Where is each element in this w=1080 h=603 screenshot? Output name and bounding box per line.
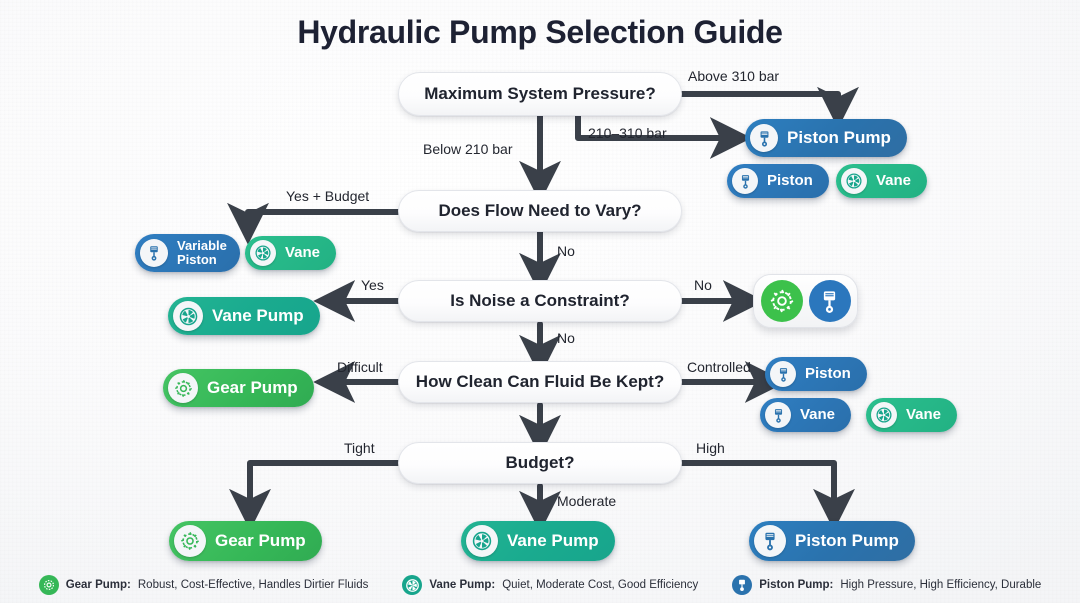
result-chip-variable-piston[interactable]: Variable Piston	[135, 234, 240, 272]
result-vane-pump-final[interactable]: Vane Pump	[461, 521, 615, 561]
gear-icon	[761, 280, 803, 322]
edge-label-noise-yes: Yes	[361, 277, 384, 293]
legend-name: Vane Pump:	[429, 579, 495, 591]
result-gear-pump-final[interactable]: Gear Pump	[169, 521, 322, 561]
result-piston-pump-final[interactable]: Piston Pump	[749, 521, 915, 561]
decision-label: Is Noise a Constraint?	[450, 291, 629, 311]
result-label: Piston Pump	[795, 532, 899, 550]
decision-node-clean[interactable]: How Clean Can Fluid Be Kept?	[398, 361, 682, 403]
decision-label: Does Flow Need to Vary?	[438, 201, 641, 221]
piston-icon	[765, 402, 791, 428]
vane-icon	[841, 168, 867, 194]
edge-label-flow-no: No	[557, 243, 575, 259]
edge-label-above-310: Above 310 bar	[688, 68, 779, 84]
result-piston-pump-top[interactable]: Piston Pump	[745, 119, 907, 157]
result-label: Variable Piston	[177, 239, 227, 267]
decision-node-flow[interactable]: Does Flow Need to Vary?	[398, 190, 682, 232]
result-label: Vane	[800, 407, 835, 423]
edge-label-controlled: Controlled	[687, 359, 751, 375]
decision-label: Maximum System Pressure?	[424, 84, 656, 104]
edge-label-noise-no-down: No	[557, 330, 575, 346]
legend-desc: Quiet, Moderate Cost, Good Efficiency	[502, 579, 698, 591]
vane-icon	[466, 525, 498, 557]
piston-icon	[732, 575, 752, 595]
edge-label-moderate: Moderate	[557, 493, 616, 509]
result-label: Vane Pump	[507, 532, 599, 550]
legend-name: Piston Pump:	[759, 579, 833, 591]
piston-icon	[809, 280, 851, 322]
result-chip-vane-4[interactable]: Vane	[866, 398, 957, 432]
piston-icon	[754, 525, 786, 557]
gear-icon	[174, 525, 206, 557]
legend-item-piston: Piston Pump: High Pressure, High Efficie…	[732, 575, 1041, 595]
result-gear-pump-clean[interactable]: Gear Pump	[163, 369, 314, 407]
piston-icon	[770, 361, 796, 387]
result-label: Vane	[876, 173, 911, 189]
edge-label-difficult: Difficult	[337, 359, 383, 375]
gear-icon	[39, 575, 59, 595]
vane-icon	[250, 240, 276, 266]
vane-icon	[173, 301, 203, 331]
edge-yes-budget	[248, 212, 398, 228]
flowchart-canvas: Hydraulic Pump Selection Guide	[0, 0, 1080, 603]
edge-label-tight: Tight	[344, 440, 375, 456]
result-label: Gear Pump	[207, 379, 298, 397]
result-label: Vane	[906, 407, 941, 423]
legend-item-gear: Gear Pump: Robust, Cost-Effective, Handl…	[39, 575, 369, 595]
edge-label-below-210: Below 210 bar	[423, 141, 513, 157]
gear-icon	[168, 373, 198, 403]
edge-tight	[250, 463, 398, 514]
piston-icon	[732, 168, 758, 194]
edge-above-310	[682, 94, 838, 112]
edge-label-noise-no-right: No	[694, 277, 712, 293]
vane-icon	[871, 402, 897, 428]
legend: Gear Pump: Robust, Cost-Effective, Handl…	[0, 575, 1080, 595]
result-chip-vane-2[interactable]: Vane	[245, 236, 336, 270]
result-label: Gear Pump	[215, 532, 306, 550]
result-chip-vane-3[interactable]: Vane	[760, 398, 851, 432]
decision-node-noise[interactable]: Is Noise a Constraint?	[398, 280, 682, 322]
legend-desc: High Pressure, High Efficiency, Durable	[840, 579, 1041, 591]
result-label: Piston	[805, 366, 851, 382]
decision-node-budget[interactable]: Budget?	[398, 442, 682, 484]
legend-name: Gear Pump:	[66, 579, 131, 591]
vane-icon	[402, 575, 422, 595]
legend-item-vane: Vane Pump: Quiet, Moderate Cost, Good Ef…	[402, 575, 698, 595]
result-label: Piston Pump	[787, 129, 891, 147]
result-chip-vane-1[interactable]: Vane	[836, 164, 927, 198]
result-chip-piston-1[interactable]: Piston	[727, 164, 829, 198]
decision-label: Budget?	[506, 453, 575, 473]
result-label: Vane	[285, 245, 320, 261]
edge-label-yes-budget: Yes + Budget	[286, 188, 369, 204]
legend-desc: Robust, Cost-Effective, Handles Dirtier …	[138, 579, 369, 591]
piston-icon	[750, 124, 778, 152]
edge-label-210-310: 210–310 bar	[588, 125, 667, 141]
edge-label-high: High	[696, 440, 725, 456]
result-label: Vane Pump	[212, 307, 304, 325]
result-chip-piston-2[interactable]: Piston	[765, 357, 867, 391]
piston-icon	[140, 239, 168, 267]
edge-high	[682, 463, 834, 514]
result-noise-no-icons[interactable]	[753, 274, 858, 328]
decision-label: How Clean Can Fluid Be Kept?	[416, 372, 664, 392]
decision-node-pressure[interactable]: Maximum System Pressure?	[398, 72, 682, 116]
result-vane-pump-noise[interactable]: Vane Pump	[168, 297, 320, 335]
result-label: Piston	[767, 173, 813, 189]
